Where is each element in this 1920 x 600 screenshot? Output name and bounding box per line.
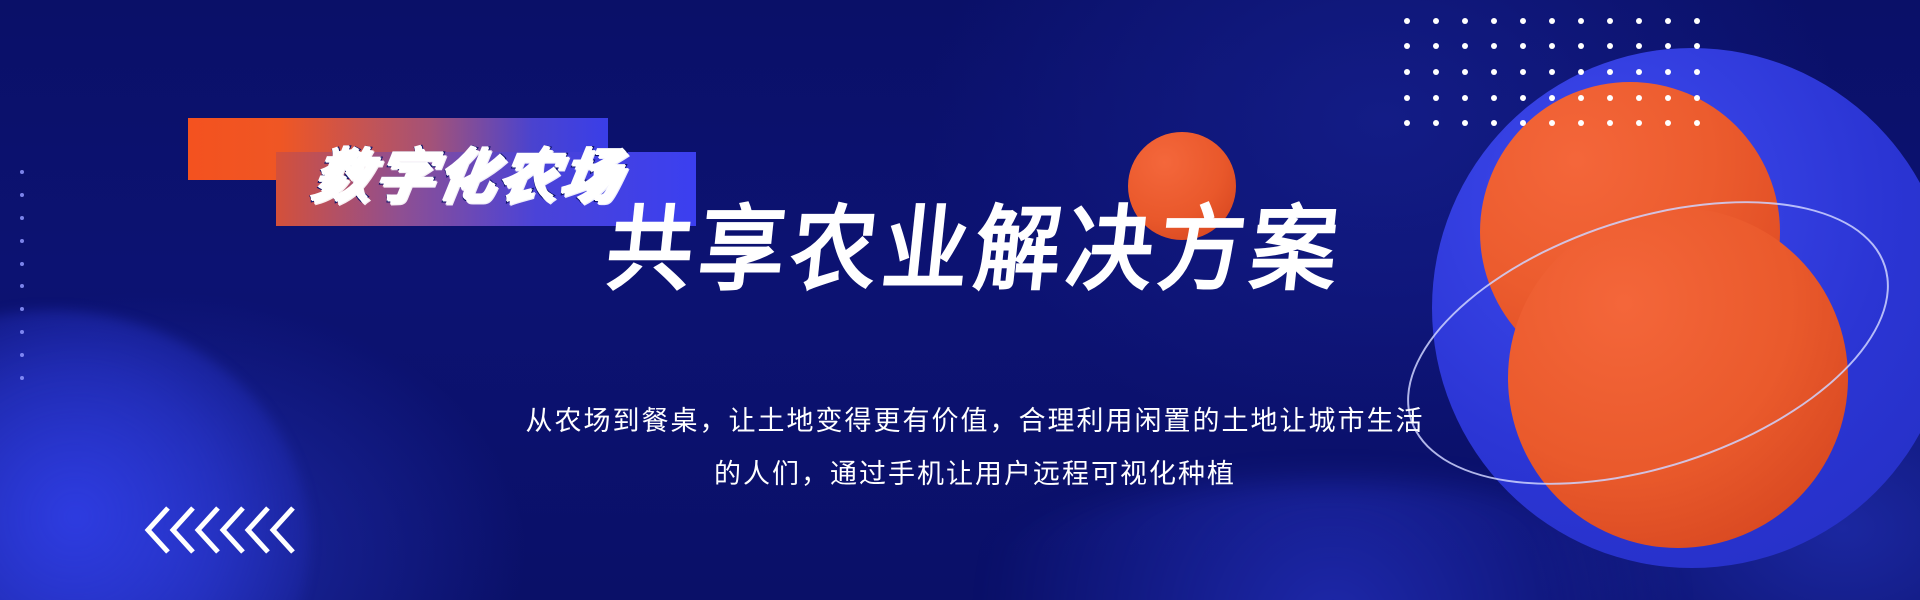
dot-grid-icon	[1392, 8, 1712, 136]
tag-label: 数字化农场	[308, 148, 627, 206]
hero-banner: 数字化农场 共享农业解决方案 从农场到餐桌，让土地变得更有价值，合理利用闲置的土…	[0, 0, 1920, 600]
subtitle-line-2: 的人们，通过手机让用户远程可视化种植	[30, 448, 1920, 501]
double-chevron-left-icon	[140, 500, 320, 560]
page-title: 共享农业解决方案	[0, 205, 1920, 295]
page-title-text: 共享农业解决方案	[602, 201, 1348, 299]
subtitle-block: 从农场到餐桌，让土地变得更有价值，合理利用闲置的土地让城市生活 的人们，通过手机…	[0, 395, 1920, 500]
subtitle-line-1: 从农场到餐桌，让土地变得更有价值，合理利用闲置的土地让城市生活	[30, 395, 1920, 448]
